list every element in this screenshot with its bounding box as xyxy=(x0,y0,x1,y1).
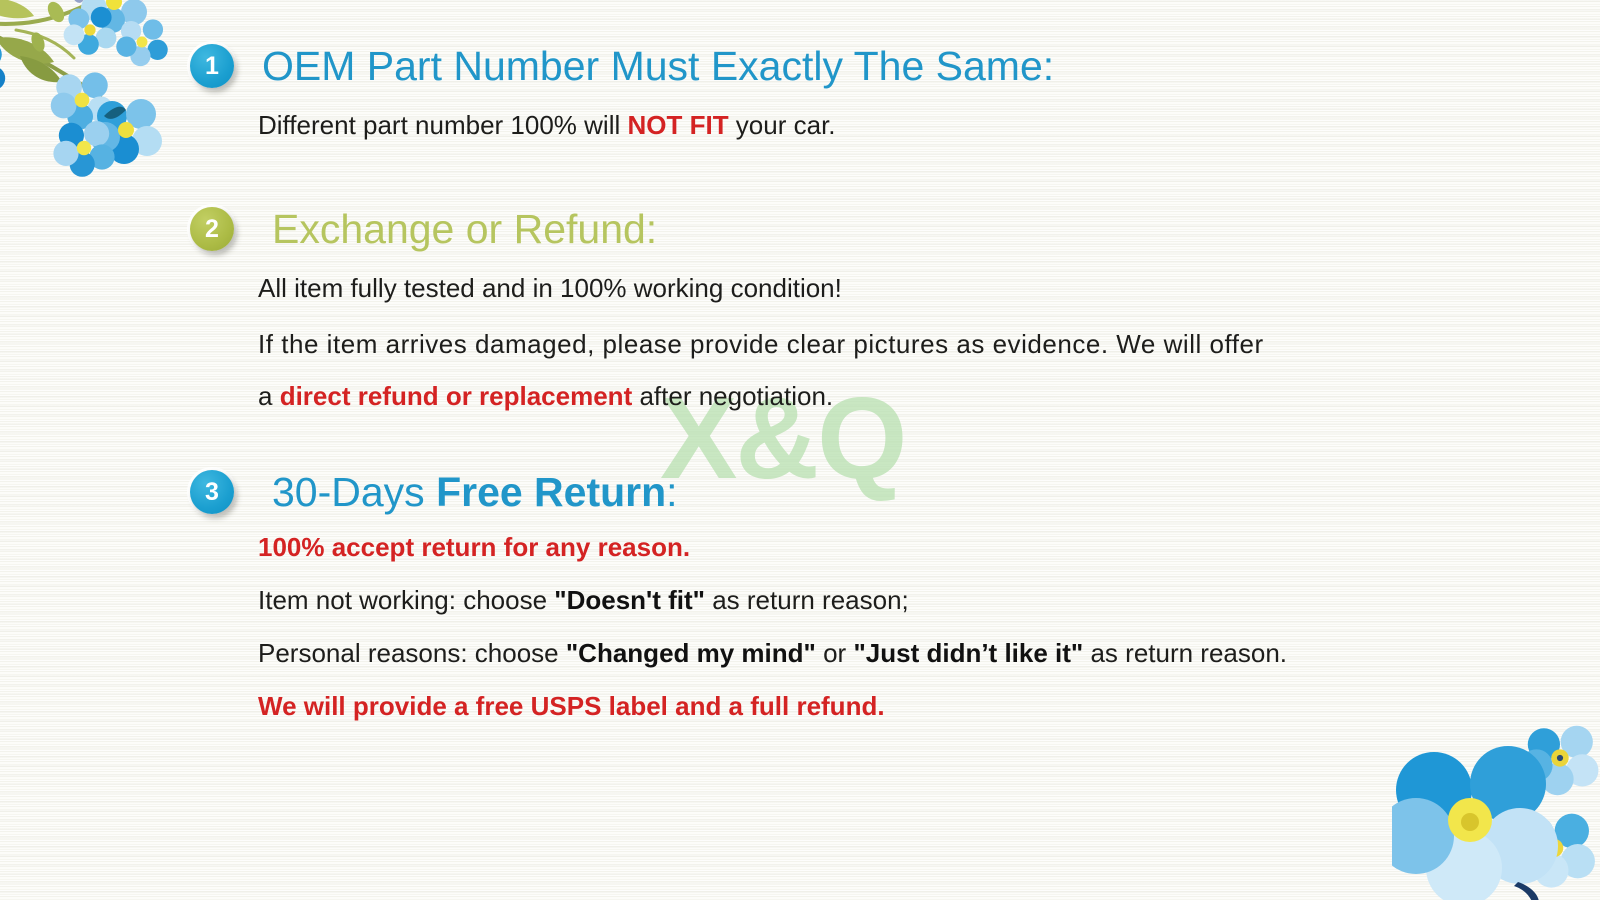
section-3-badge: 3 xyxy=(190,470,234,514)
section-1-heading: OEM Part Number Must Exactly The Same: xyxy=(262,38,1054,94)
text-fragment: your car. xyxy=(729,110,836,140)
section-2-line-1: All item fully tested and in 100% workin… xyxy=(258,271,842,305)
text-fragment-bold: "Just didn’t like it" xyxy=(853,638,1083,668)
policy-banner: X&Q xyxy=(0,0,1600,900)
heading-fragment: 30-Days xyxy=(272,469,436,515)
text-fragment: Item not working: choose xyxy=(258,585,554,615)
heading-fragment: : xyxy=(666,469,677,515)
section-2-line-2: If the item arrives damaged, please prov… xyxy=(258,327,1264,361)
text-fragment: All item fully tested and in 100% workin… xyxy=(258,273,842,303)
section-2-line-3: a direct refund or replacement after neg… xyxy=(258,379,833,413)
text-fragment: or xyxy=(816,638,854,668)
text-fragment-emphasis: We will provide a free USPS label and a … xyxy=(258,691,885,721)
section-1-line-1: Different part number 100% will NOT FIT … xyxy=(258,108,836,142)
section-2-badge: 2 xyxy=(190,207,234,251)
text-fragment-bold: "Doesn't fit" xyxy=(554,585,705,615)
section-1-badge: 1 xyxy=(190,44,234,88)
text-fragment-emphasis: direct refund or replacement xyxy=(280,381,633,411)
text-fragment: a xyxy=(258,381,280,411)
section-3-line-3: Personal reasons: choose "Changed my min… xyxy=(258,636,1287,670)
text-fragment: after negotiation. xyxy=(632,381,833,411)
text-fragment: Different part number 100% will xyxy=(258,110,627,140)
text-fragment: as return reason; xyxy=(705,585,909,615)
text-fragment-emphasis: NOT FIT xyxy=(627,110,728,140)
text-fragment: If the item arrives damaged, please prov… xyxy=(258,329,1264,359)
text-fragment: Personal reasons: choose xyxy=(258,638,566,668)
text-fragment-bold: "Changed my mind" xyxy=(566,638,816,668)
section-2-heading: Exchange or Refund: xyxy=(272,201,657,257)
text-fragment-emphasis: 100% accept return for any reason. xyxy=(258,532,690,562)
section-3-line-1: 100% accept return for any reason. xyxy=(258,530,690,564)
section-3-heading: 30-Days Free Return: xyxy=(272,464,678,520)
section-3-line-2: Item not working: choose "Doesn't fit" a… xyxy=(258,583,909,617)
text-fragment: as return reason. xyxy=(1083,638,1287,668)
heading-fragment-bold: Free Return xyxy=(436,469,666,515)
section-3-line-4: We will provide a free USPS label and a … xyxy=(258,689,885,723)
